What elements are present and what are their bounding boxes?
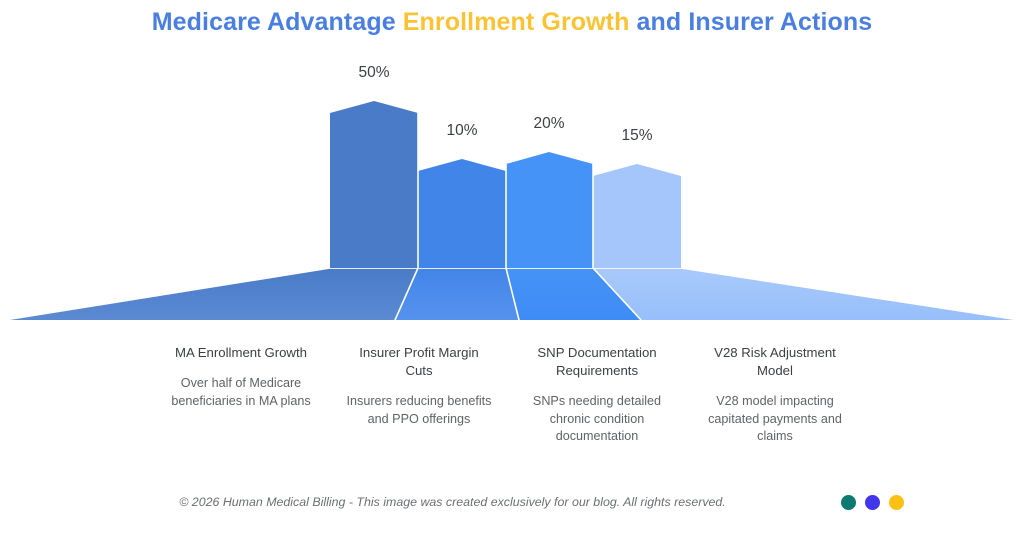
copyright-text: © 2026 Human Medical Billing - This imag…: [0, 492, 905, 512]
caption-description-1: Over half of Medicare beneficiaries in M…: [166, 375, 316, 410]
caption-description-4: V28 model impacting capitated payments a…: [700, 393, 850, 445]
value-label-4: 15%: [593, 127, 681, 145]
caption-column-1: MA Enrollment Growth Over half of Medica…: [152, 344, 330, 446]
title-segment-highlight: Enrollment Growth: [403, 8, 630, 36]
title-segment-secondary: and Insurer Actions: [629, 8, 872, 36]
page-title: Medicare Advantage Enrollment Growth and…: [0, 7, 1024, 37]
caption-column-2: Insurer Profit Margin Cuts Insurers redu…: [330, 344, 508, 446]
brand-dots: [841, 495, 904, 510]
caption-description-3: SNPs needing detailed chronic condition …: [522, 393, 672, 445]
title-segment-primary: Medicare Advantage: [152, 8, 403, 36]
yellow-dot: [889, 495, 904, 510]
value-label-2: 10%: [418, 122, 506, 140]
floor-wedge-1: [5, 268, 418, 320]
caption-title-1: MA Enrollment Growth: [166, 344, 316, 362]
bar-1[interactable]: [330, 101, 418, 268]
caption-column-3: SNP Documentation Requirements SNPs need…: [508, 344, 686, 446]
floor-wedge-4: [593, 268, 1019, 320]
bar-chart: 50% 10% 20% 15%: [0, 52, 1024, 327]
caption-column-4: V28 Risk Adjustment Model V28 model impa…: [686, 344, 864, 446]
caption-title-4: V28 Risk Adjustment Model: [700, 344, 850, 380]
bar-3[interactable]: [506, 152, 593, 268]
bar-4[interactable]: [593, 164, 681, 268]
caption-title-2: Insurer Profit Margin Cuts: [344, 344, 494, 380]
caption-description-2: Insurers reducing benefits and PPO offer…: [344, 393, 494, 428]
indigo-dot: [865, 495, 880, 510]
teal-dot: [841, 495, 856, 510]
chart-floor: [5, 268, 1019, 320]
value-label-1: 50%: [330, 64, 418, 82]
caption-title-3: SNP Documentation Requirements: [522, 344, 672, 380]
bar-2[interactable]: [418, 159, 506, 268]
caption-row: MA Enrollment Growth Over half of Medica…: [152, 344, 864, 446]
footer: © 2026 Human Medical Billing - This imag…: [0, 492, 1024, 522]
value-label-3: 20%: [505, 115, 593, 133]
title-bar: Medicare Advantage Enrollment Growth and…: [0, 0, 1024, 37]
chart-svg: [0, 52, 1024, 327]
